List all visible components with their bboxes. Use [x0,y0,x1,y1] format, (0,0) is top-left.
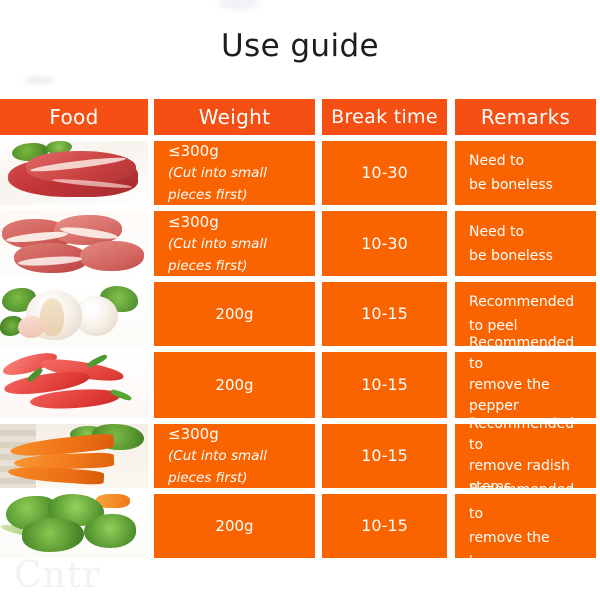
column-header-weight: Weight [154,99,315,135]
break-time-cell: 10-15 [322,494,447,558]
use-guide-page: Use guide Food Weight Break time Remarks… [0,0,600,600]
remarks-line: be boneless [469,244,553,268]
remarks-line: be boneless [469,173,553,197]
carrot-photo [0,424,148,488]
remarks-cell: Need to be boneless [455,211,596,276]
weight-cell: 200g [154,494,315,558]
break-time-cell: 10-15 [322,282,447,346]
table-header-row: Food Weight Break time Remarks [0,99,600,135]
weight-sub: (Cut into small pieces first) [168,445,305,489]
remarks-line: Recommended to [469,414,586,456]
cilantro-photo [0,494,148,558]
remarks-line: remove the pepper [469,375,586,417]
break-time-value: 10-15 [361,374,408,396]
break-time-value: 10-30 [361,233,408,255]
break-time-value: 10-30 [361,162,408,184]
remarks-cell: Recommended to remove the leaves [455,494,596,558]
remarks-line: Recommended to [469,333,586,375]
left-smudge-artifact [24,76,54,85]
remarks-line: Need to [469,220,524,244]
break-time-value: 10-15 [361,445,408,467]
weight-main: ≤300g [168,211,219,233]
remarks-line: remove radish [469,456,570,477]
table-row: 200g 10-15 Recommended to remove the pep… [0,352,600,418]
column-header-remarks: Remarks [455,99,596,135]
page-title: Use guide [0,26,600,66]
break-time-cell: 10-15 [322,352,447,418]
weight-sub: (Cut into small pieces first) [168,162,305,206]
remarks-line: Recommended [469,290,574,314]
garlic-photo [0,282,148,346]
weight-cell: ≤300g (Cut into small pieces first) [154,424,315,488]
use-guide-table: Food Weight Break time Remarks ≤300g (Cu… [0,99,600,564]
weight-main: 200g [215,515,253,537]
weight-main: ≤300g [168,423,219,445]
weight-cell: ≤300g (Cut into small pieces first) [154,211,315,276]
weight-cell: 200g [154,352,315,418]
food-image-cell [0,282,148,346]
weight-cell: 200g [154,282,315,346]
food-image-cell [0,211,148,276]
remarks-line: Recommended to [469,478,586,526]
remarks-cell: Need to be boneless [455,141,596,205]
weight-sub: (Cut into small pieces first) [168,233,305,277]
food-image-cell [0,352,148,418]
break-time-value: 10-15 [361,303,408,325]
food-image-cell [0,424,148,488]
pork-photo [0,211,148,276]
weight-main: ≤300g [168,140,219,162]
weight-main: 200g [215,374,253,396]
table-row: 200g 10-15 Recommended to remove the lea… [0,494,600,558]
top-smudge-artifact [218,0,260,10]
break-time-cell: 10-15 [322,424,447,488]
beef-photo [0,141,148,205]
food-image-cell [0,141,148,205]
table-row: ≤300g (Cut into small pieces first) 10-3… [0,141,600,205]
weight-cell: ≤300g (Cut into small pieces first) [154,141,315,205]
food-image-cell [0,494,148,558]
break-time-cell: 10-30 [322,141,447,205]
break-time-cell: 10-30 [322,211,447,276]
column-header-break-time: Break time [322,99,447,135]
break-time-value: 10-15 [361,515,408,537]
pepper-photo [0,352,148,418]
weight-main: 200g [215,303,253,325]
remarks-line: Need to [469,149,524,173]
column-header-food: Food [0,99,148,135]
remarks-cell: Recommended to remove the pepper stems [455,352,596,418]
table-row: ≤300g (Cut into small pieces first) 10-3… [0,211,600,276]
watermark: Cntr [14,556,100,596]
remarks-line: remove the leaves [469,526,586,574]
